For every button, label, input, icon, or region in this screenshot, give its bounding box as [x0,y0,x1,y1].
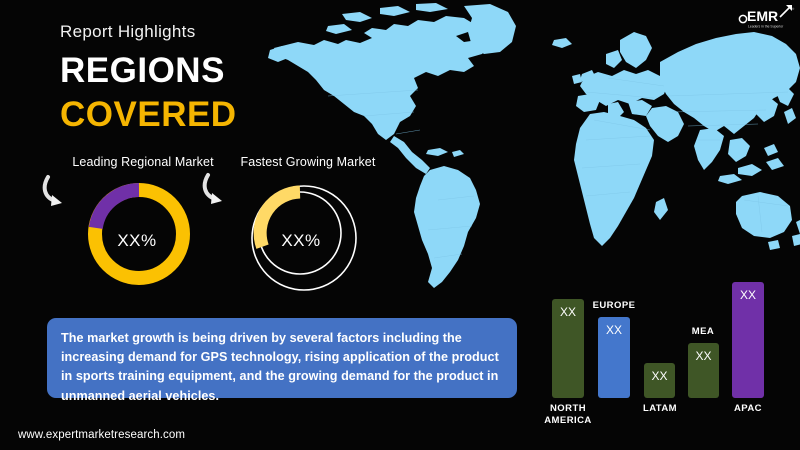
regional-bar-chart: XX NORTH AMERICA XX EUROPE XX LATAM XX M… [530,270,800,450]
logo-circle-icon [739,15,746,22]
logo-wordmark: EMR [747,8,778,24]
bar-value-latam: XX [644,369,675,383]
bar-north-america[interactable]: XX [552,299,584,398]
bar-label-latam: LATAM [634,403,686,415]
bar-europe[interactable]: XX [598,317,630,398]
page-eyebrow: Report Highlights [60,22,196,42]
bar-label-europe: EUROPE [592,300,636,312]
logo-trademark: ® [792,7,795,11]
donut-1-segment-secondary [96,190,139,228]
growth-arrow-icon [780,5,792,17]
donut-2-center-value: XX% [242,231,360,251]
curved-arrow-icon [42,173,80,211]
emr-logo[interactable]: EMR Leaders in the Superior ® [736,2,796,32]
infographic-slide: Report Highlights REGIONS COVERED EMR Le… [0,0,800,450]
donut-2-label: Fastest Growing Market [228,155,388,169]
logo-tagline: Leaders in the Superior [748,25,784,29]
bar-value-north-america: XX [552,305,584,319]
curved-arrow-icon [202,171,240,209]
bar-value-mea: XX [688,349,719,363]
page-title-line1: REGIONS [60,53,225,88]
bar-latam[interactable]: XX [644,363,675,398]
bar-mea[interactable]: XX [688,343,719,398]
donut-1-center-value: XX% [82,231,192,251]
bar-value-europe: XX [598,323,630,337]
bar-label-north-america: NORTH AMERICA [536,403,600,427]
bar-label-mea: MEA [682,326,724,338]
insight-callout-box: The market growth is being driven by sev… [47,318,517,398]
leading-regional-market-chart: Leading Regional Market XX% [68,155,218,300]
bar-label-apac: APAC [724,403,772,415]
fastest-growing-market-chart: Fastest Growing Market XX% [228,155,388,303]
donut-1-label: Leading Regional Market [68,155,218,169]
bar-value-apac: XX [732,288,764,302]
insight-callout-text: The market growth is being driven by sev… [61,329,501,406]
bar-apac[interactable]: XX [732,282,764,398]
page-title-line2: COVERED [60,97,237,132]
footer-url[interactable]: www.expertmarketresearch.com [18,429,185,441]
